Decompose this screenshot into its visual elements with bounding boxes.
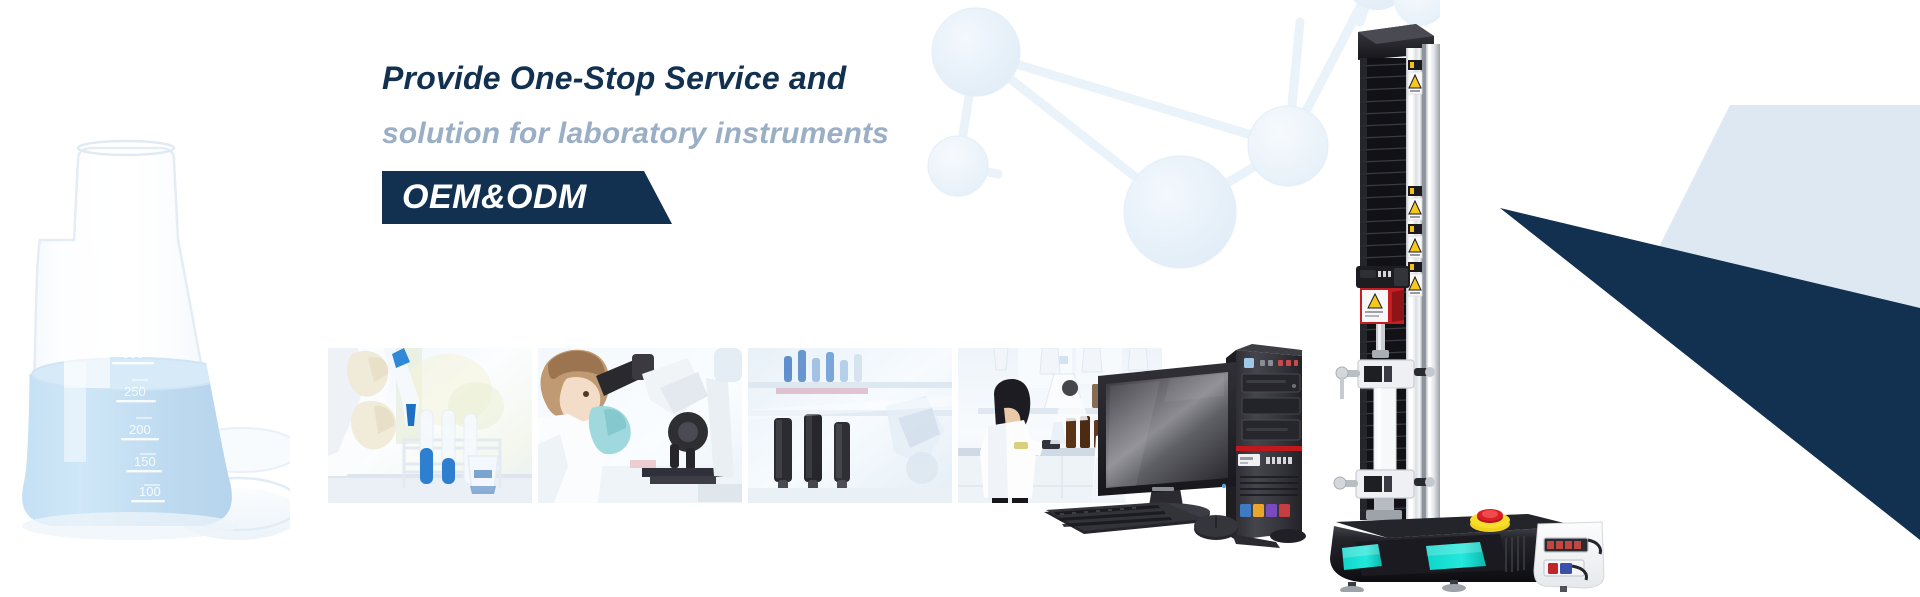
flask-glass-body [26, 148, 226, 520]
machine-crosshead-load-cell [1356, 266, 1410, 358]
headline-line-2: solution for laboratory instruments [382, 119, 1002, 149]
flask-graduation-marks: 300 250 200 150 100 [112, 346, 165, 502]
hero-banner: 300 250 200 150 100 Prov [0, 0, 1920, 597]
photo-pipette-rack [748, 348, 952, 503]
machine-lower-grip [1334, 470, 1435, 520]
svg-text:200: 200 [129, 422, 151, 437]
photo-microscope-analysis [538, 348, 742, 503]
computer-keyboard [1044, 502, 1206, 534]
svg-text:100: 100 [139, 484, 161, 499]
oem-odm-badge: OEM&ODM [382, 171, 672, 224]
machine-column [1360, 44, 1440, 522]
petri-dish-shape [176, 428, 290, 540]
flask-rim [78, 141, 174, 155]
navy-wedge-shape [1500, 180, 1920, 580]
svg-text:250: 250 [124, 384, 146, 399]
computer-tower [1226, 344, 1306, 548]
flask-highlight [64, 162, 110, 462]
svg-text:150: 150 [134, 454, 156, 469]
erlenmeyer-flask-image: 300 250 200 150 100 [0, 122, 290, 597]
headline-block: Provide One-Stop Service and solution fo… [382, 62, 1002, 224]
svg-text:300: 300 [122, 346, 144, 361]
photo-pipetting-test-tubes [328, 348, 532, 503]
headline-line-1: Provide One-Stop Service and [382, 62, 1002, 94]
photo-laboratory-bench-team [958, 348, 1162, 503]
flask-liquid [0, 358, 290, 597]
machine-upper-grip [1336, 360, 1435, 399]
machine-specimen [1374, 388, 1396, 470]
computer-mouse [1194, 515, 1238, 540]
machine-feet [1340, 580, 1567, 592]
laboratory-photo-strip [328, 348, 1162, 503]
machine-top-cap [1358, 24, 1434, 60]
machine-warning-labels [1408, 60, 1422, 296]
badge-label: OEM&ODM [402, 171, 587, 224]
